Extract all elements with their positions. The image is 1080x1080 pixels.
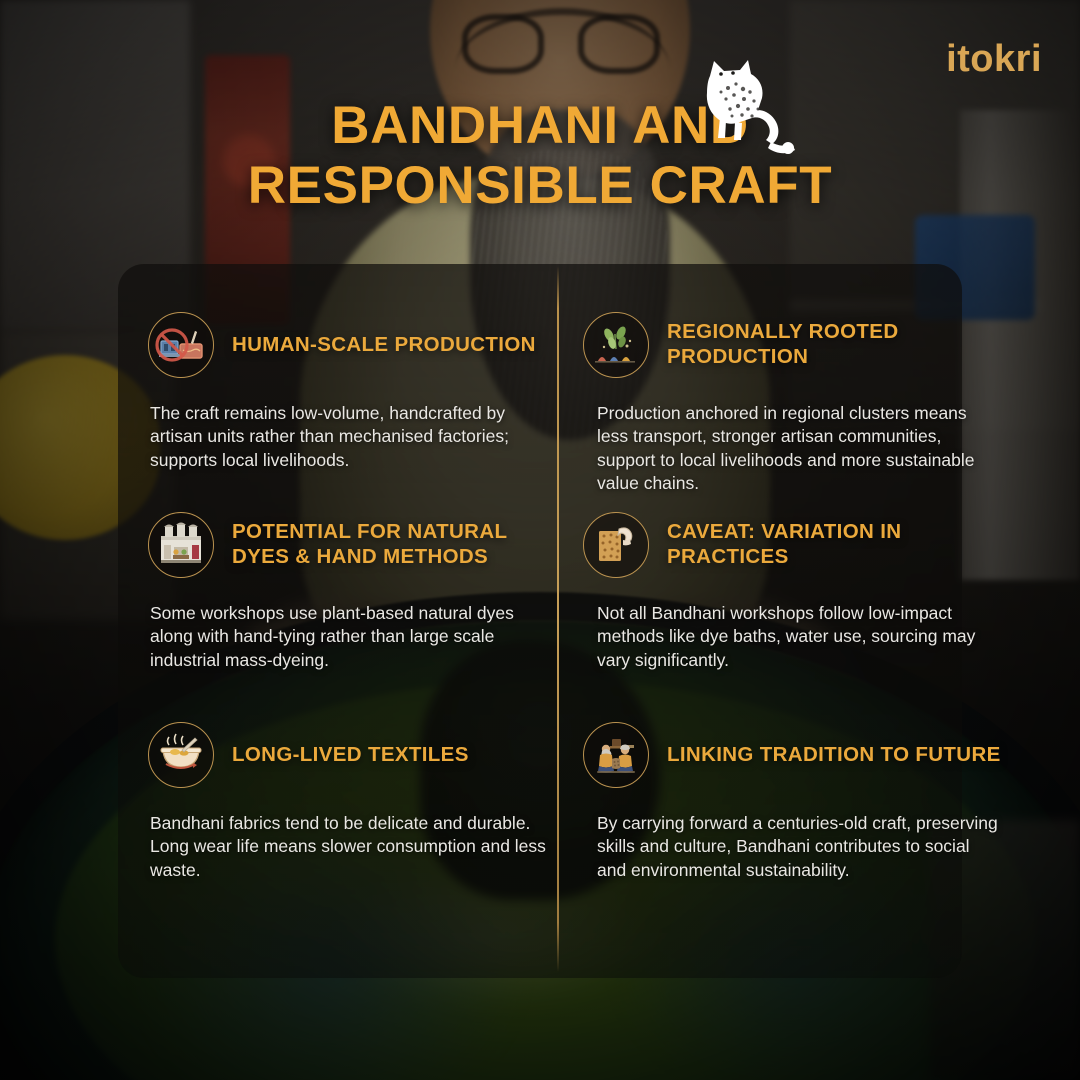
- card-title: POTENTIAL FOR NATURAL DYES & HAND METHOD…: [232, 520, 568, 570]
- two-artisans-working-icon: [583, 722, 649, 788]
- card-header: REGIONALLY ROOTED PRODUCTION: [583, 312, 1003, 378]
- page-title: BANDHANI AND RESPONSIBLE CRAFT: [0, 96, 1080, 217]
- steaming-dye-pot-icon: [148, 722, 214, 788]
- card-body: By carrying forward a centuries-old craf…: [597, 812, 1001, 882]
- card-title: CAVEAT: VARIATION IN PRACTICES: [667, 520, 1003, 570]
- card-body: Production anchored in regional clusters…: [597, 402, 1001, 495]
- card-body: The craft remains low-volume, handcrafte…: [150, 402, 550, 472]
- card-potential-natural-dyes: POTENTIAL FOR NATURAL DYES & HAND METHOD…: [148, 512, 568, 672]
- card-header: CAVEAT: VARIATION IN PRACTICES: [583, 512, 1003, 578]
- page-title-line-1: BANDHANI AND: [0, 96, 1080, 156]
- leaves-and-dye-powder-icon: [583, 312, 649, 378]
- card-regionally-rooted-production: REGIONALLY ROOTED PRODUCTION Production …: [583, 312, 1003, 495]
- page-title-line-2: RESPONSIBLE CRAFT: [0, 156, 1080, 216]
- card-title: HUMAN-SCALE PRODUCTION: [232, 333, 536, 358]
- cards-grid: HUMAN-SCALE PRODUCTION The craft remains…: [118, 264, 962, 978]
- card-header: LINKING TRADITION TO FUTURE: [583, 722, 1003, 788]
- no-factory-machine-icon: [148, 312, 214, 378]
- brand-logo[interactable]: itokri: [946, 40, 1042, 78]
- card-header: LONG-LIVED TEXTILES: [148, 722, 568, 788]
- card-long-lived-textiles: LONG-LIVED TEXTILES Bandhani fabrics ten…: [148, 722, 568, 882]
- card-human-scale-production: HUMAN-SCALE PRODUCTION The craft remains…: [148, 312, 568, 472]
- card-title: REGIONALLY ROOTED PRODUCTION: [667, 320, 1003, 370]
- brand-logo-text: itokri: [946, 38, 1042, 80]
- card-body: Some workshops use plant-based natural d…: [150, 602, 550, 672]
- cat-illustration-icon: [688, 54, 803, 164]
- craft-workshop-building-icon: [148, 512, 214, 578]
- card-linking-tradition-to-future: LINKING TRADITION TO FUTURE By carrying …: [583, 722, 1003, 882]
- card-header: HUMAN-SCALE PRODUCTION: [148, 312, 568, 378]
- card-title: LINKING TRADITION TO FUTURE: [667, 743, 1001, 768]
- card-caveat-variation-in-practices: CAVEAT: VARIATION IN PRACTICES Not all B…: [583, 512, 1003, 672]
- card-title: LONG-LIVED TEXTILES: [232, 743, 469, 768]
- hand-holding-patterned-fabric-icon: [583, 512, 649, 578]
- card-body: Bandhani fabrics tend to be delicate and…: [150, 812, 550, 882]
- card-body: Not all Bandhani workshops follow low-im…: [597, 602, 1001, 672]
- card-header: POTENTIAL FOR NATURAL DYES & HAND METHOD…: [148, 512, 568, 578]
